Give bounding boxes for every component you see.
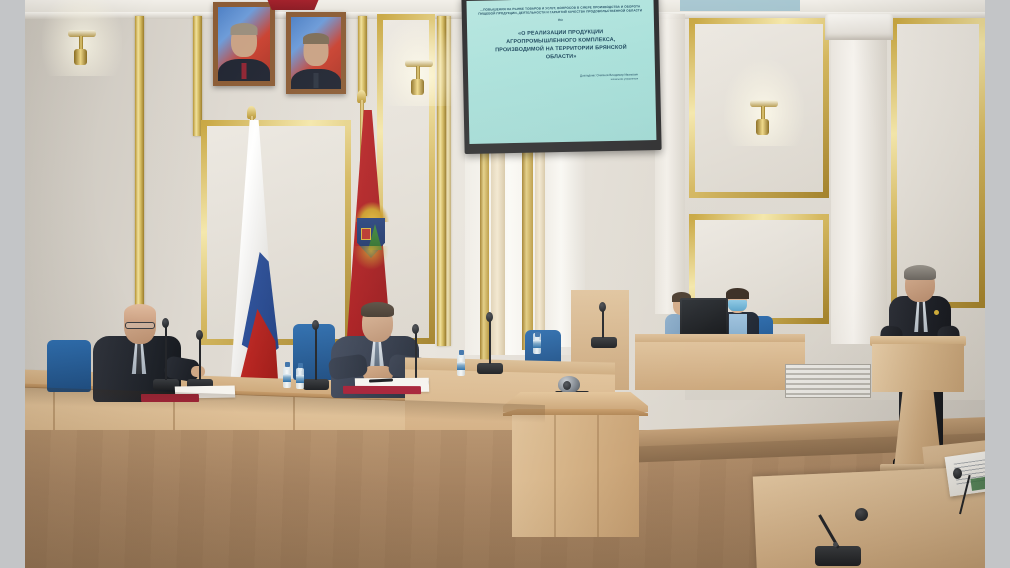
- gold-trim-strip: [358, 16, 367, 96]
- microphone-left-2[interactable]: [187, 330, 217, 390]
- border-right: [985, 0, 1010, 568]
- wall-panel-right-b: [891, 18, 985, 308]
- bottle-label: [283, 374, 291, 382]
- gold-trim-strip: [135, 16, 144, 316]
- face-mask-icon: [728, 300, 747, 311]
- flag-russia: [221, 112, 291, 402]
- slide-subheader-text: ПО: [476, 16, 645, 24]
- microphone-foreground[interactable]: [815, 512, 859, 566]
- bryansk-coat-of-arms: [351, 202, 391, 282]
- portrait-body: [291, 69, 341, 94]
- person-hair: [726, 288, 749, 299]
- mic-capsule: [162, 318, 169, 328]
- mic-gooseneck: [489, 316, 491, 364]
- slide-header-text: …ПОВЫШЕНИЯ НА РЫНКЕ ТОВАРОВ И УСЛУГ, ВОП…: [476, 4, 645, 17]
- bottle-cap: [535, 332, 540, 337]
- portrait-body: [218, 59, 270, 86]
- camera-lens: [563, 381, 571, 390]
- photograph: …ПОВЫШЕНИЯ НА РЫНКЕ ТОВАРОВ И УСЛУГ, ВОП…: [25, 0, 985, 568]
- mic-base: [591, 337, 617, 348]
- mic-base: [815, 546, 861, 566]
- slide-author-block: Докладчик: Очаянов Владимир Иванович нач…: [477, 73, 646, 85]
- wall-emblem-banner: [265, 0, 321, 10]
- mic-capsule: [196, 330, 203, 340]
- person-bald-top: [124, 304, 156, 322]
- mic-gooseneck: [415, 328, 417, 380]
- water-bottle[interactable]: [283, 362, 291, 388]
- sconce-base: [411, 79, 424, 95]
- bottle-label: [296, 375, 304, 383]
- column-capital: [825, 14, 893, 40]
- person-hair: [904, 265, 936, 280]
- podium-face: [872, 344, 964, 392]
- red-folder-center: [343, 386, 421, 394]
- mic-base: [303, 379, 329, 390]
- microphone-foreground-right[interactable]: [945, 470, 975, 514]
- mic-gooseneck: [199, 334, 201, 380]
- gold-trim-strip: [193, 16, 202, 136]
- mic-capsule: [953, 468, 962, 479]
- cabinet-body: [512, 415, 639, 537]
- ventilation-grille: [785, 364, 871, 398]
- wall-panel-right-a: [689, 18, 829, 198]
- monitor-screen[interactable]: [682, 300, 726, 333]
- curtain-gold-band: [522, 150, 533, 350]
- portrait-hair: [231, 23, 258, 35]
- rear-desk-front: [635, 342, 805, 390]
- curtain-cream-band: [535, 150, 545, 345]
- portrait-putin: [213, 2, 275, 86]
- gold-trim-strip: [437, 16, 446, 346]
- water-bottle[interactable]: [457, 350, 465, 376]
- red-folder-left: [141, 394, 199, 402]
- slide-title-block: «О РЕАЛИЗАЦИИ ПРОДУКЦИИ АГРОПРОМЫШЛЕННОГ…: [476, 27, 646, 63]
- person-hair: [361, 302, 394, 317]
- portrait-mishustin: [286, 12, 346, 94]
- ceiling-blue-accent: [680, 0, 800, 11]
- border-left: [0, 0, 25, 568]
- projection-screen: …ПОВЫШЕНИЯ НА РЫНКЕ ТОВАРОВ И УСЛУГ, ВОП…: [461, 0, 661, 154]
- cabinet-seam: [597, 415, 599, 537]
- coa-emblem-center: [361, 228, 371, 240]
- screen-surface: …ПОВЫШЕНИЯ НА РЫНКЕ ТОВАРОВ И УСЛУГ, ВОП…: [466, 0, 656, 144]
- bottle-cap: [298, 363, 303, 368]
- chair-left: [47, 340, 91, 392]
- computer-monitor[interactable]: [680, 298, 728, 338]
- mic-capsule: [312, 320, 319, 330]
- mic-capsule: [486, 312, 493, 322]
- bottle-label: [533, 340, 541, 348]
- cabinet-seam: [554, 415, 556, 537]
- water-bottle[interactable]: [533, 332, 541, 354]
- image-frame: …ПОВЫШЕНИЯ НА РЫНКЕ ТОВАРОВ И УСЛУГ, ВОП…: [0, 0, 1010, 568]
- sconce-base: [756, 119, 769, 135]
- mic-capsule: [855, 508, 868, 521]
- microphone-left-1[interactable]: [153, 318, 183, 390]
- mic-capsule: [599, 302, 606, 312]
- mic-gooseneck: [315, 324, 317, 380]
- bottle-label: [457, 362, 465, 370]
- lapel-pin-icon: [934, 310, 939, 315]
- coa-wreath: [353, 246, 389, 270]
- microphone-rear[interactable]: [591, 302, 617, 348]
- bottle-cap: [285, 362, 290, 367]
- microphone-mid-right[interactable]: [477, 312, 505, 374]
- microphone-center-1[interactable]: [303, 320, 333, 390]
- center-cabinet: [503, 392, 648, 537]
- mic-gooseneck: [165, 322, 167, 380]
- portrait-hair: [303, 33, 329, 44]
- water-bottle[interactable]: [296, 363, 304, 389]
- mic-capsule: [412, 324, 419, 334]
- gold-trim-strip: [446, 16, 451, 346]
- mic-base: [477, 363, 503, 374]
- mic-indicator-light: [833, 542, 838, 547]
- mic-gooseneck: [959, 475, 971, 514]
- sconce-base: [74, 49, 87, 65]
- person-glasses: [125, 322, 155, 329]
- bottle-cap: [459, 350, 464, 355]
